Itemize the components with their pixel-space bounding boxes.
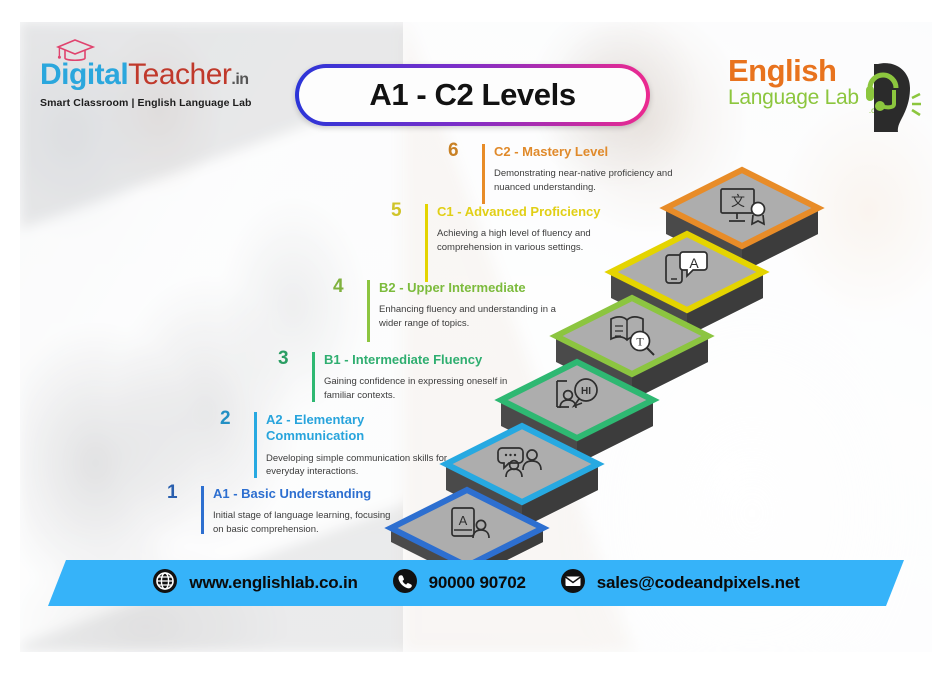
level-block-6: 6 C2 - Mastery Level Demonstrating near-… — [448, 144, 684, 195]
level-body-3: B1 - Intermediate Fluency Gaining confid… — [324, 352, 514, 403]
level-heading-1: A1 - Basic Understanding — [213, 486, 403, 502]
title-pill-inner: A1 - C2 Levels — [299, 68, 646, 122]
level-bar-5 — [425, 204, 428, 282]
level-body-2: A2 - Elementary Communication Developing… — [266, 412, 456, 479]
level-heading-3: B1 - Intermediate Fluency — [324, 352, 514, 368]
page-title: A1 - C2 Levels — [369, 77, 575, 113]
infographic-poster: DigitalTeacher.in Smart Classroom | Engl… — [20, 22, 932, 652]
level-heading-2: A2 - Elementary Communication — [266, 412, 456, 445]
brand-left-tagline: Smart Classroom | English Language Lab — [40, 97, 290, 109]
level-description-4: Enhancing fluency and understanding in a… — [379, 303, 569, 331]
level-bar-2 — [254, 412, 257, 478]
level-heading-6: C2 - Mastery Level — [494, 144, 684, 160]
level-bar-4 — [367, 280, 370, 342]
footer-phone-text: 90000 90702 — [429, 573, 526, 593]
level-description-2: Developing simple communication skills f… — [266, 452, 456, 480]
level-number-5: 5 — [391, 200, 402, 222]
brand-left-part2: Teacher — [128, 58, 231, 91]
level-description-6: Demonstrating near-native proficiency an… — [494, 167, 684, 195]
footer-items: www.englishlab.co.in 90000 90702 — [48, 560, 904, 606]
footer-website-text: www.englishlab.co.in — [189, 573, 357, 593]
level-description-1: Initial stage of language learning, focu… — [213, 509, 403, 537]
level-number-1: 1 — [167, 482, 178, 504]
level-description-3: Gaining confidence in expressing oneself… — [324, 375, 514, 403]
footer-email[interactable]: sales@codeandpixels.net — [560, 568, 800, 599]
level-body-6: C2 - Mastery Level Demonstrating near-na… — [494, 144, 684, 195]
level-block-5: 5 C1 - Advanced Proficiency Achieving a … — [391, 204, 627, 255]
level-heading-4: B2 - Upper Intermediate — [379, 280, 569, 296]
footer-phone[interactable]: 90000 90702 — [392, 568, 526, 599]
globe-icon — [152, 568, 178, 599]
footer-website[interactable]: www.englishlab.co.in — [152, 568, 357, 599]
level-bar-6 — [482, 144, 485, 204]
digital-teacher-logo: DigitalTeacher.in Smart Classroom | Engl… — [40, 60, 290, 109]
level-block-2: 2 A2 - Elementary Communication Developi… — [220, 412, 456, 479]
brand-left-tld: .in — [231, 71, 248, 88]
level-body-5: C1 - Advanced Proficiency Achieving a hi… — [437, 204, 627, 255]
footer-email-text: sales@codeandpixels.net — [597, 573, 800, 593]
level-body-1: A1 - Basic Understanding Initial stage o… — [213, 486, 403, 537]
level-description-5: Achieving a high level of fluency and co… — [437, 227, 627, 255]
level-body-4: B2 - Upper Intermediate Enhancing fluenc… — [379, 280, 569, 331]
level-number-4: 4 — [333, 276, 344, 298]
headset-head-icon — [860, 58, 922, 141]
level-heading-5: C1 - Advanced Proficiency — [437, 204, 627, 220]
level-block-4: 4 B2 - Upper Intermediate Enhancing flue… — [333, 280, 569, 331]
envelope-icon — [560, 568, 586, 599]
level-number-3: 3 — [278, 348, 289, 370]
english-language-lab-logo: English Language Lab .co.in — [728, 56, 918, 138]
level-number-2: 2 — [220, 408, 231, 430]
level-bar-3 — [312, 352, 315, 402]
level-block-1: 1 A1 - Basic Understanding Initial stage… — [167, 486, 403, 537]
phone-icon — [392, 568, 418, 599]
level-bar-1 — [201, 486, 204, 534]
title-pill: A1 - C2 Levels — [295, 64, 650, 126]
footer-contact-bar: www.englishlab.co.in 90000 90702 — [48, 560, 904, 606]
level-number-6: 6 — [448, 140, 459, 162]
graduation-cap-icon — [56, 38, 96, 69]
level-block-3: 3 B1 - Intermediate Fluency Gaining conf… — [278, 352, 514, 403]
